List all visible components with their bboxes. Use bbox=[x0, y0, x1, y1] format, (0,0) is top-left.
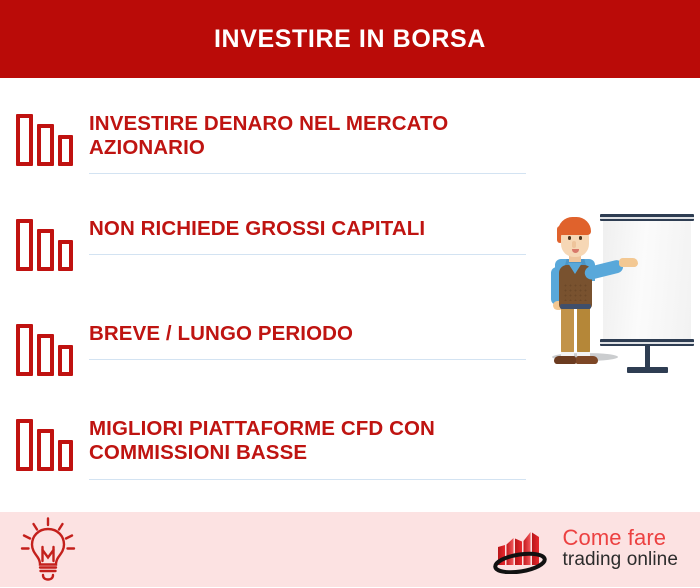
list-item-divider bbox=[89, 173, 526, 174]
bar-chart-icon bbox=[16, 318, 82, 376]
figure-left-shoe bbox=[554, 356, 576, 364]
list-item-body: INVESTIRE DENARO NEL MERCATO AZIONARIO bbox=[82, 106, 532, 174]
list-item-label: INVESTIRE DENARO NEL MERCATO AZIONARIO bbox=[89, 112, 532, 160]
list-item: MIGLIORI PIATTAFORME CFD CON COMMISSIONI… bbox=[16, 411, 532, 480]
list-item-body: NON RICHIEDE GROSSI CAPITALI bbox=[82, 211, 532, 255]
logo-line-2: trading online bbox=[563, 550, 678, 569]
flipchart-pole bbox=[645, 345, 650, 369]
flipchart-screen bbox=[603, 219, 691, 341]
figure-right-leg bbox=[577, 308, 590, 355]
figure-fringe bbox=[560, 222, 590, 232]
logo-line-1: Come fare bbox=[563, 527, 678, 549]
header-banner: INVESTIRE IN BORSA bbox=[0, 0, 700, 78]
figure-belt bbox=[560, 304, 591, 309]
bar-chart-icon bbox=[16, 213, 82, 271]
list-item-label: MIGLIORI PIATTAFORME CFD CON COMMISSIONI… bbox=[89, 417, 532, 465]
lightbulb-icon bbox=[17, 517, 79, 583]
footer-bar: Come fare trading online bbox=[0, 512, 700, 587]
list-item: INVESTIRE DENARO NEL MERCATO AZIONARIO bbox=[16, 106, 532, 174]
list-item-body: MIGLIORI PIATTAFORME CFD CON COMMISSIONI… bbox=[82, 411, 532, 480]
list-item: NON RICHIEDE GROSSI CAPITALI bbox=[16, 211, 532, 271]
bar-chart-icon bbox=[16, 413, 82, 471]
list-item-label: BREVE / LUNGO PERIODO bbox=[89, 322, 532, 346]
logo-bars-icon bbox=[492, 524, 556, 574]
flipchart-top-bar bbox=[600, 214, 694, 221]
list-item-body: BREVE / LUNGO PERIODO bbox=[82, 316, 532, 360]
flipchart-foot bbox=[627, 367, 668, 373]
list-item-label: NON RICHIEDE GROSSI CAPITALI bbox=[89, 217, 532, 241]
figure-vest-pattern bbox=[563, 283, 589, 301]
figure-right-hand bbox=[619, 258, 638, 267]
logo-wordmark: Come fare trading online bbox=[563, 527, 678, 572]
figure-left-leg bbox=[561, 308, 574, 355]
man-presenting-illustration bbox=[541, 205, 693, 377]
list-item-divider bbox=[89, 359, 526, 360]
list-item-divider bbox=[89, 254, 526, 255]
brand-logo: Come fare trading online bbox=[492, 524, 678, 574]
list-item-divider bbox=[89, 479, 526, 480]
page-title: INVESTIRE IN BORSA bbox=[214, 27, 486, 52]
figure-left-eye bbox=[568, 236, 571, 240]
infographic-root: INVESTIRE IN BORSA INVESTIRE DENARO NEL … bbox=[0, 0, 700, 587]
figure-right-shoe bbox=[576, 356, 598, 364]
figure-right-eye bbox=[579, 236, 582, 240]
list-item: BREVE / LUNGO PERIODO bbox=[16, 316, 532, 376]
bar-chart-icon bbox=[16, 108, 82, 166]
figure-nose bbox=[572, 241, 576, 248]
